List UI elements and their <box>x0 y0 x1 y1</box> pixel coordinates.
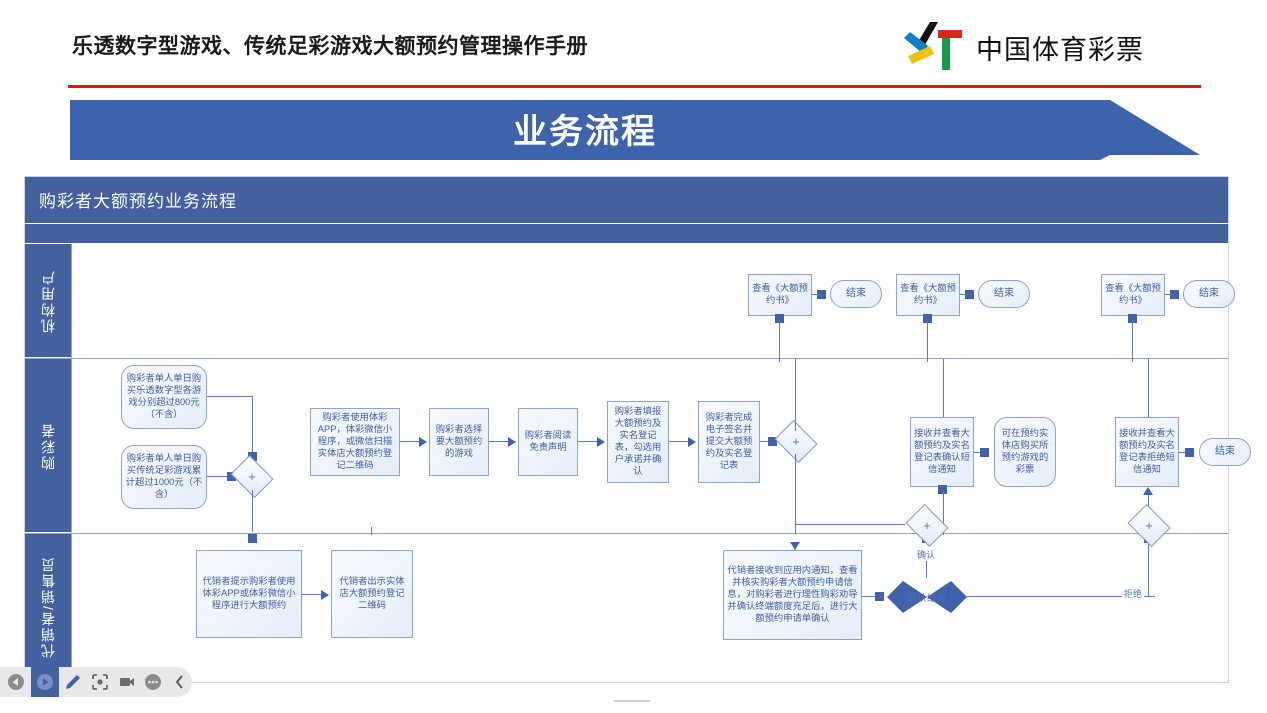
page-header: 乐透数字型游戏、传统足彩游戏大额预约管理操作手册 中国体育彩票 <box>0 0 1267 90</box>
connector-line <box>1132 320 1133 362</box>
pool-subband <box>25 224 1228 243</box>
gateway-plus-icon: + <box>779 428 813 455</box>
arrow-icon <box>790 542 800 550</box>
connector-line <box>252 490 253 532</box>
arrow-icon <box>1143 487 1153 495</box>
lane-agent-seller: 代销者/销售员 代销者提示购彩者使用体彩APP或体彩微信小程序进行大额预约 代销… <box>25 534 1228 681</box>
node-end-1[interactable]: 结束 <box>830 280 882 308</box>
gateway-merge-start[interactable]: + <box>235 463 269 490</box>
connector-line <box>252 396 253 452</box>
node-view-book-1[interactable]: 查看《大额预约书》 <box>748 274 812 316</box>
node-agent-prompt[interactable]: 代销者提示购彩者使用体彩APP或体彩微信小程序进行大额预约 <box>196 550 302 638</box>
arrow-icon <box>597 437 605 447</box>
pool-body: 机构用户 查看《大额预约书》 结束 查看《大额预约书》 结束 查看《大额预约书》 <box>25 244 1228 681</box>
connector-line <box>1148 359 1149 417</box>
gateway-plus-icon: + <box>910 512 944 539</box>
lane-label-text: 机构用户 <box>38 269 58 333</box>
brand-name: 中国体育彩票 <box>976 28 1144 67</box>
connector-line <box>943 359 944 417</box>
record-video-icon[interactable] <box>114 669 139 695</box>
slide-page-indicator <box>614 700 650 702</box>
node-view-book-3[interactable]: 查看《大额预约书》 <box>1101 274 1165 316</box>
gateway-plus-icon: + <box>235 463 269 490</box>
node-start-football[interactable]: 购彩者单人单日购买传统足彩游戏累计超过1000元（不含） <box>121 445 207 509</box>
connector-node <box>248 534 257 543</box>
lane-label-agent-seller: 代销者/销售员 <box>25 534 71 681</box>
lane-label-lottery-buyer: 购彩者 <box>25 359 71 533</box>
pen-tool-icon[interactable] <box>61 669 86 695</box>
connector-line <box>1165 294 1173 295</box>
gateway-merge-submit[interactable]: + <box>779 428 813 455</box>
node-select-game[interactable]: 购彩者选择要大额预约的游戏 <box>429 408 489 476</box>
gateway-confirm-result[interactable]: 确认结果 <box>887 577 967 617</box>
section-banner: 业务流程 <box>70 100 1200 160</box>
node-fill-form[interactable]: 购彩者填报大额预约及实名登记表，勾选用户承诺并确认 <box>607 401 669 483</box>
edge-label-reject: 拒绝 <box>1122 587 1144 600</box>
node-end-3[interactable]: 结束 <box>1183 280 1235 308</box>
lane-label-text: 购彩者 <box>38 422 58 470</box>
connector-line <box>795 359 796 431</box>
lane-lottery-buyer: 购彩者 购彩者单人单日购买乐透数字型各游戏分别超过800元（不含） 购彩者单人单… <box>25 359 1228 534</box>
edge-label-confirm: 确认 <box>915 548 937 561</box>
next-slide-icon[interactable] <box>31 667 59 697</box>
swimlane-pool: 购彩者大额预约业务流程 机构用户 查看《大额预约书》 结束 查看《大额预约书》 … <box>24 176 1229 683</box>
connector-line <box>207 396 253 397</box>
connector-line <box>795 524 905 525</box>
gateway-label: 确认结果 <box>887 577 967 617</box>
connector-node <box>980 448 989 457</box>
connector-line <box>489 441 509 442</box>
node-recv-confirm-sms[interactable]: 接收并查看大额预约及实名登记表确认短信通知 <box>910 417 974 487</box>
node-agent-show-qr[interactable]: 代销者出示实体店大额预约登记二维码 <box>331 550 413 638</box>
connector-line <box>302 594 322 595</box>
pool-header: 购彩者大额预约业务流程 <box>25 177 1228 223</box>
connector-line <box>371 527 372 535</box>
connector-line <box>927 320 928 362</box>
node-use-app[interactable]: 购彩者使用体彩APP，体彩微信小程序，或微信扫描实体店大额预约登记二维码 <box>310 408 400 476</box>
connector-line <box>400 441 420 442</box>
lane-label-institution-user: 机构用户 <box>25 244 71 358</box>
more-options-icon[interactable] <box>141 669 166 695</box>
connector-line <box>669 441 689 442</box>
connector-node <box>875 592 884 601</box>
lane-body-lottery-buyer: 购彩者单人单日购买乐透数字型各游戏分别超过800元（不含） 购彩者单人单日购买传… <box>71 359 1228 533</box>
presentation-toolbar[interactable] <box>0 667 192 697</box>
lane-label-text: 代销者/销售员 <box>38 556 58 658</box>
node-agent-review[interactable]: 代销者接收到应用内通知，查看并核实购彩者大额预约申请信息，对购彩者进行理性购彩劝… <box>723 550 862 640</box>
connector-node <box>1185 448 1194 457</box>
node-recv-reject-sms[interactable]: 接收并查看大额预约及实名登记表拒绝短信通知 <box>1115 417 1179 487</box>
connector-line <box>578 441 598 442</box>
node-end-2[interactable]: 结束 <box>978 280 1030 308</box>
arrow-icon <box>508 437 516 447</box>
arrow-icon <box>688 437 696 447</box>
connector-line <box>779 320 780 362</box>
connector-line <box>207 476 229 477</box>
china-sports-lottery-logo-icon <box>900 20 966 74</box>
lane-institution-user: 机构用户 查看《大额预约书》 结束 查看《大额预约书》 结束 查看《大额预约书》 <box>25 244 1228 359</box>
lane-body-institution-user: 查看《大额预约书》 结束 查看《大额预约书》 结束 查看《大额预约书》 结束 <box>71 244 1228 358</box>
node-read-disclaimer[interactable]: 购彩者阅读免责声明 <box>518 408 578 476</box>
section-title: 业务流程 <box>70 100 1100 157</box>
node-start-lottery[interactable]: 购彩者单人单日购买乐透数字型各游戏分别超过800元（不含） <box>121 365 207 429</box>
laser-pointer-icon[interactable] <box>88 669 113 695</box>
connector-line <box>1148 539 1149 597</box>
arrow-icon <box>321 590 329 600</box>
document-title: 乐透数字型游戏、传统足彩游戏大额预约管理操作手册 <box>72 30 588 60</box>
gateway-merge-confirm[interactable]: + <box>910 512 944 539</box>
connector-line <box>812 294 820 295</box>
brand-block: 中国体育彩票 <box>900 20 1144 74</box>
node-esign-submit[interactable]: 购彩者完成电子签名并提交大额预约及实名登记表 <box>698 401 760 483</box>
pool-title: 购彩者大额预约业务流程 <box>39 187 237 212</box>
gateway-merge-reject[interactable]: + <box>1132 512 1166 539</box>
gateway-plus-icon: + <box>1132 512 1166 539</box>
arrow-icon <box>419 437 427 447</box>
node-end-4[interactable]: 结束 <box>1199 438 1251 466</box>
header-divider <box>68 85 1201 88</box>
lane-body-agent-seller: 代销者提示购彩者使用体彩APP或体彩微信小程序进行大额预约 代销者出示实体店大额… <box>71 534 1228 681</box>
previous-slide-icon[interactable] <box>4 669 29 695</box>
node-view-book-2[interactable]: 查看《大额预约书》 <box>896 274 960 316</box>
node-buy-at-store[interactable]: 可在预约实体店购买所预约游戏的彩票 <box>994 417 1056 487</box>
connector-line <box>960 294 968 295</box>
collapse-toolbar-icon[interactable] <box>167 669 192 695</box>
